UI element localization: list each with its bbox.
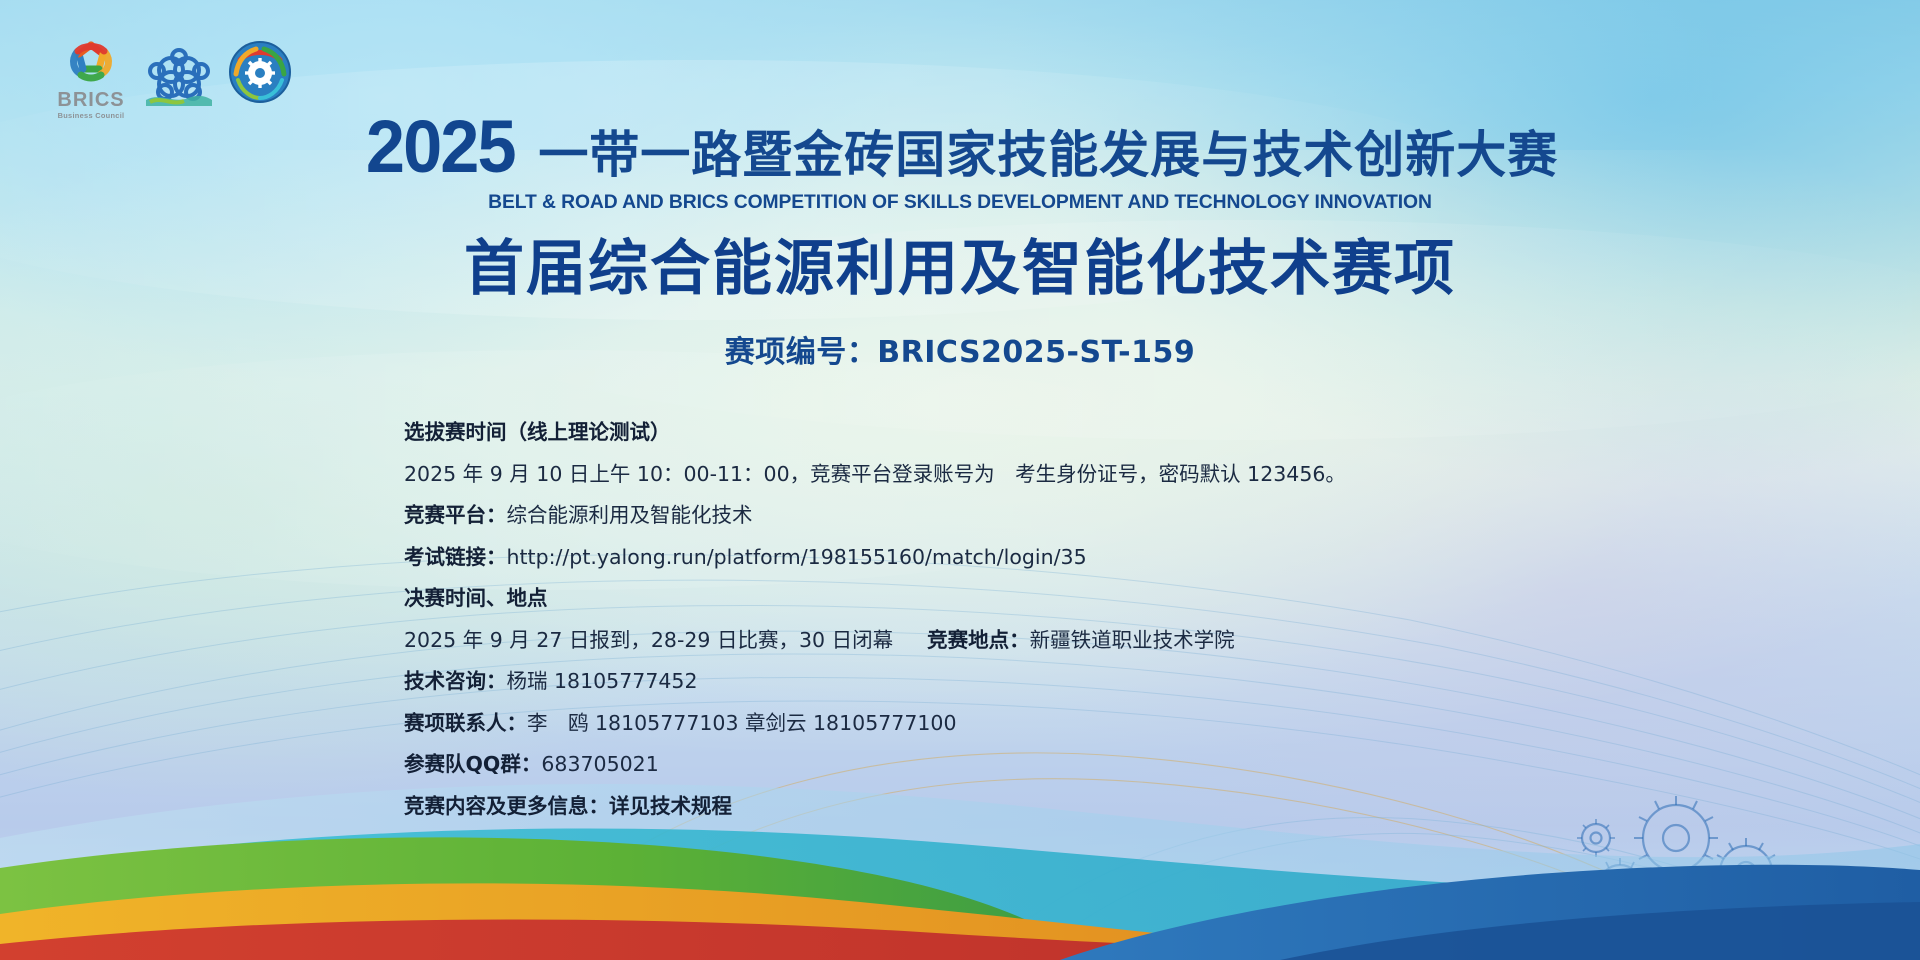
qq-group-label: 参赛队QQ群： — [404, 752, 541, 776]
platform-label: 竞赛平台： — [404, 503, 507, 527]
selection-time-label: 选拔赛时间（线上理论测试） — [404, 420, 671, 444]
competition-globe-icon — [228, 40, 292, 104]
contacts-value: 李 鸥 18105777103 章剑云 18105777100 — [527, 711, 957, 735]
year-label: 2025 — [366, 112, 515, 182]
contacts-row: 赛项联系人：李 鸥 18105777103 章剑云 18105777100 — [404, 713, 1664, 734]
skills-emblem-icon — [144, 44, 214, 106]
logo-row: BRICS Business Council — [52, 38, 292, 120]
selection-time-value: 2025 年 9 月 10 日上午 10：00-11：00，竞赛平台登录账号为 … — [404, 462, 1346, 486]
brics-star-icon — [63, 38, 119, 84]
qq-group-row: 参赛队QQ群：683705021 — [404, 754, 1664, 775]
exam-link-label: 考试链接： — [404, 545, 507, 569]
final-time-value: 2025 年 9 月 27 日报到，28-29 日比赛，30 日闭幕 — [404, 628, 893, 652]
venue-label: 竞赛地点： — [927, 628, 1030, 652]
final-time-venue-row: 2025 年 9 月 27 日报到，28-29 日比赛，30 日闭幕竞赛地点：新… — [404, 630, 1664, 651]
exam-link-value[interactable]: http://pt.yalong.run/platform/198155160/… — [507, 545, 1087, 569]
poster-banner: BRICS Business Council — [0, 0, 1920, 960]
brics-business-council-logo: BRICS Business Council — [52, 38, 130, 120]
more-info-label: 竞赛内容及更多信息： — [404, 794, 609, 818]
title-block: 2025 一带一路暨金砖国家技能发展与技术创新大赛 BELT & ROAD AN… — [0, 112, 1920, 371]
info-block: 选拔赛时间（线上理论测试） 2025 年 9 月 10 日上午 10：00-11… — [404, 422, 1664, 837]
brics-wordmark: BRICS — [52, 90, 130, 110]
platform-value: 综合能源利用及智能化技术 — [507, 503, 753, 527]
final-heading-label: 决赛时间、地点 — [404, 586, 548, 610]
subject-title: 首届综合能源利用及智能化技术赛项 — [0, 238, 1920, 301]
qq-group-value: 683705021 — [541, 752, 658, 776]
exam-link-row: 考试链接：http://pt.yalong.run/platform/19815… — [404, 547, 1664, 568]
title-line-primary: 2025 一带一路暨金砖国家技能发展与技术创新大赛 — [0, 112, 1920, 182]
contacts-label: 赛项联系人： — [404, 711, 527, 735]
headline-chinese: 一带一路暨金砖国家技能发展与技术创新大赛 — [538, 130, 1558, 180]
tech-support-value: 杨瑞 18105777452 — [507, 669, 698, 693]
competition-emblem-logo — [228, 40, 292, 109]
more-info-value: 详见技术规程 — [609, 794, 732, 818]
tech-support-row: 技术咨询：杨瑞 18105777452 — [404, 671, 1664, 692]
venue-value: 新疆铁道职业技术学院 — [1030, 628, 1235, 652]
selection-time-heading: 选拔赛时间（线上理论测试） — [404, 422, 1664, 443]
headline-english: BELT & ROAD AND BRICS COMPETITION OF SKI… — [10, 191, 1911, 214]
final-heading-row: 决赛时间、地点 — [404, 588, 1664, 609]
event-code: 赛项编号：BRICS2025-ST-159 — [0, 327, 1920, 371]
brics-skills-logo — [144, 44, 214, 111]
more-info-row: 竞赛内容及更多信息：详见技术规程 — [404, 796, 1664, 817]
tech-support-label: 技术咨询： — [404, 669, 507, 693]
platform-row: 竞赛平台：综合能源利用及智能化技术 — [404, 505, 1664, 526]
selection-time-row: 2025 年 9 月 10 日上午 10：00-11：00，竞赛平台登录账号为 … — [404, 464, 1664, 485]
brics-subtitle: Business Council — [52, 112, 130, 120]
